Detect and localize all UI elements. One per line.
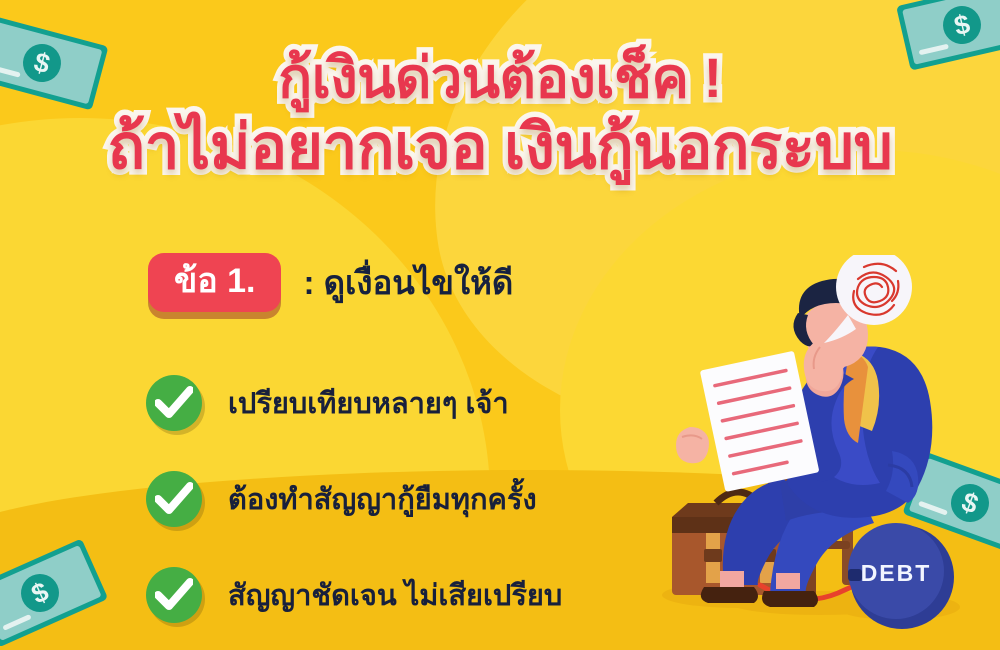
list-item: ต้องทำสัญญากู้ยืมทุกครั้ง	[146, 451, 666, 547]
list-item-label: สัญญาชัดเจน ไม่เสียเปรียบ	[228, 572, 562, 618]
list-item: สัญญาชัดเจน ไม่เสียเปรียบ	[146, 547, 666, 643]
list-item-label: เปรียบเทียบหลายๆ เจ้า	[228, 380, 509, 426]
hand-holding-paper	[676, 427, 709, 463]
item-heading-row: ข้อ 1. : ดูเงื่อนไขให้ดี	[148, 253, 513, 312]
bullet-list: เปรียบเทียบหลายๆ เจ้า ต้องทำสัญญากู้ยืมท…	[146, 355, 666, 643]
item-number-badge: ข้อ 1.	[148, 253, 281, 312]
debt-ball-label: DEBT	[861, 560, 932, 586]
illustration-stressed-businessman: DEBT	[620, 255, 1000, 650]
item-number-label: ข้อ 1.	[174, 260, 255, 303]
document-paper	[700, 351, 820, 492]
item-subtitle: : ดูเงื่อนไขให้ดี	[303, 256, 513, 309]
list-item-label: ต้องทำสัญญากู้ยืมทุกครั้ง	[228, 476, 537, 522]
hand-over-face	[804, 339, 843, 391]
check-icon	[146, 567, 202, 623]
list-item: เปรียบเทียบหลายๆ เจ้า	[146, 355, 666, 451]
check-icon	[146, 471, 202, 527]
check-icon	[146, 375, 202, 431]
poster-canvas: $ $ $ $ กู้เงินด่วนต้องเช็ค ! ถ้าไม่อยาก…	[0, 0, 1000, 650]
